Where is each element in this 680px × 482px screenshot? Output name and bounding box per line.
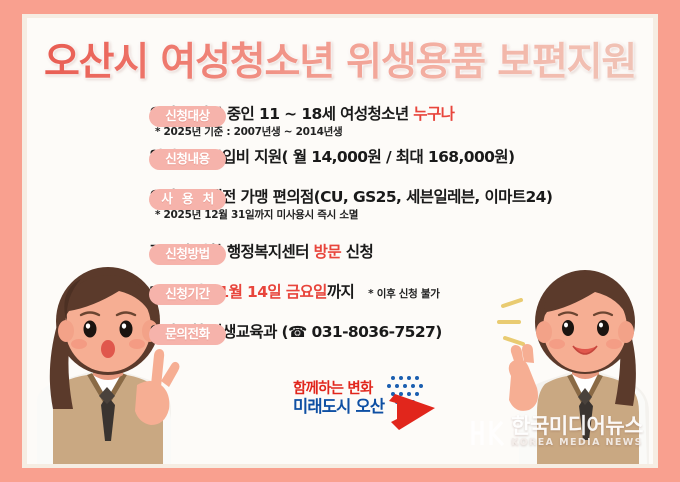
row-label-content: 신청내용 bbox=[149, 149, 226, 170]
info-rows: 신청대상 오산시 거주 중인 11 ~ 18세 여성청소년 누구나 * 2025… bbox=[54, 104, 653, 362]
row-note-usage: * 2025년 12월 31일까지 미사용시 즉시 소멸 bbox=[155, 208, 653, 222]
row-text-period-highlight: 11월 14일 금요일 bbox=[208, 283, 327, 301]
row-text-method-after: 신청 bbox=[341, 243, 373, 261]
press-watermark: 한국미디어뉴스 KOREA MEDIA NEWS bbox=[469, 415, 643, 448]
watermark-english: KOREA MEDIA NEWS bbox=[511, 437, 643, 448]
poster-title: 오산시 여성청소년 위생용품 보편지원 bbox=[44, 40, 636, 86]
row-note-applicant: * 2025년 기준 : 2007년생 ~ 2014년생 bbox=[155, 125, 653, 139]
city-logo-line1: 함께하는 변화 bbox=[293, 381, 373, 397]
poster-root: 오산시 여성청소년 위생용품 보편지원 bbox=[0, 0, 680, 482]
poster-title-area: 오산시 여성청소년 위생용품 보편지원 bbox=[27, 40, 653, 86]
info-row-method: 신청방법 주소지 관할 행정복지센터 방문 신청 bbox=[54, 242, 653, 282]
city-logo-arrow-icon bbox=[375, 372, 449, 434]
info-row-period: 신청기간 2025년 11월 14일 금요일까지* 이후 신청 불가 bbox=[54, 282, 653, 322]
city-logo-line2: 미래도시 오산 bbox=[293, 398, 384, 416]
row-text-period-after: 까지 bbox=[327, 283, 354, 301]
row-label-method: 신청방법 bbox=[149, 244, 226, 265]
row-label-period: 신청기간 bbox=[149, 284, 226, 305]
osan-city-logo: 함께하는 변화 미래도시 오산 bbox=[289, 372, 449, 434]
row-text-method-highlight: 방문 bbox=[314, 243, 341, 261]
info-row-applicant: 신청대상 오산시 거주 중인 11 ~ 18세 여성청소년 누구나 * 2025… bbox=[54, 104, 653, 147]
info-row-contact: 문의전화 오산시청 평생교육과 (☎ 031-8036-7527) bbox=[54, 322, 653, 362]
info-row-content: 신청내용 위생용품 구입비 지원( 월 14,000원 / 최대 168,000… bbox=[54, 147, 653, 187]
watermark-korean: 한국미디어뉴스 bbox=[511, 415, 643, 437]
poster-panel: 오산시 여성청소년 위생용품 보편지원 bbox=[27, 18, 653, 464]
row-label-contact: 문의전화 bbox=[149, 324, 226, 345]
row-label-applicant: 신청대상 bbox=[149, 106, 226, 127]
row-label-usage: 사 용 처 bbox=[149, 189, 226, 210]
info-row-usage: 사 용 처 오산시 오색전 가맹 편의점(CU, GS25, 세븐일레븐, 이마… bbox=[54, 187, 653, 242]
row-note-period: * 이후 신청 불가 bbox=[368, 288, 439, 300]
hk-logo-icon bbox=[469, 418, 505, 448]
row-text-applicant-highlight: 누구나 bbox=[413, 105, 454, 123]
